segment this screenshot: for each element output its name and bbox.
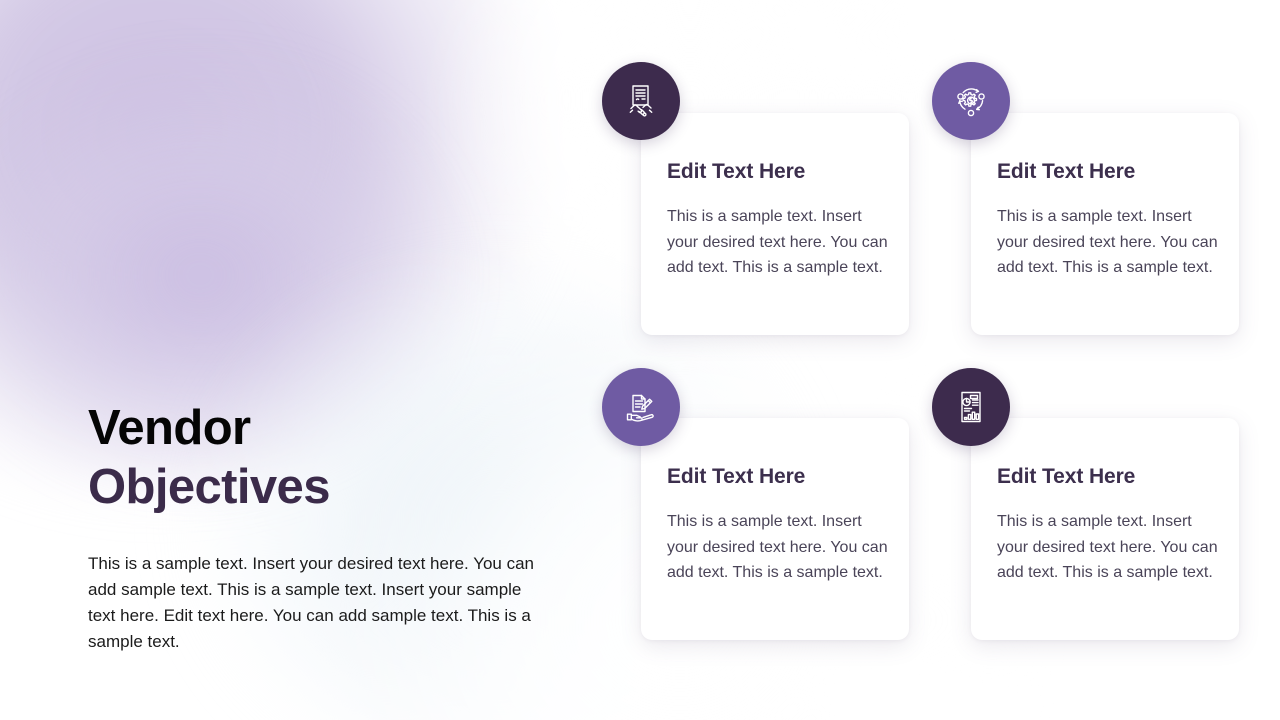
hand-document-pencil-icon — [620, 386, 662, 428]
contract-handshake-icon — [621, 81, 661, 121]
cost-cycle-gear-icon — [950, 80, 992, 122]
card-body: This is a sample text. Insert your desir… — [667, 509, 891, 586]
card-title: Edit Text Here — [997, 464, 1221, 489]
page-title-accent: Objectives — [88, 459, 558, 516]
card-title: Edit Text Here — [667, 159, 891, 184]
feature-card[interactable]: Edit Text Here This is a sample text. In… — [971, 113, 1239, 335]
card-title: Edit Text Here — [667, 464, 891, 489]
report-chart-document-icon — [951, 387, 991, 427]
card-body: This is a sample text. Insert your desir… — [997, 509, 1221, 586]
slide-canvas: Vendor Objectives This is a sample text.… — [0, 0, 1280, 720]
feature-card[interactable]: Edit Text Here This is a sample text. In… — [641, 113, 909, 335]
intro-paragraph: This is a sample text. Insert your desir… — [88, 551, 540, 655]
feature-card[interactable]: Edit Text Here This is a sample text. In… — [641, 418, 909, 640]
left-content-column: Vendor Objectives This is a sample text.… — [88, 400, 558, 655]
card-icon-badge[interactable] — [602, 62, 680, 140]
page-title-primary: Vendor — [88, 400, 558, 457]
card-icon-badge[interactable] — [932, 368, 1010, 446]
card-title: Edit Text Here — [997, 159, 1221, 184]
card-body: This is a sample text. Insert your desir… — [667, 204, 891, 281]
card-body: This is a sample text. Insert your desir… — [997, 204, 1221, 281]
card-icon-badge[interactable] — [932, 62, 1010, 140]
feature-card[interactable]: Edit Text Here This is a sample text. In… — [971, 418, 1239, 640]
card-icon-badge[interactable] — [602, 368, 680, 446]
